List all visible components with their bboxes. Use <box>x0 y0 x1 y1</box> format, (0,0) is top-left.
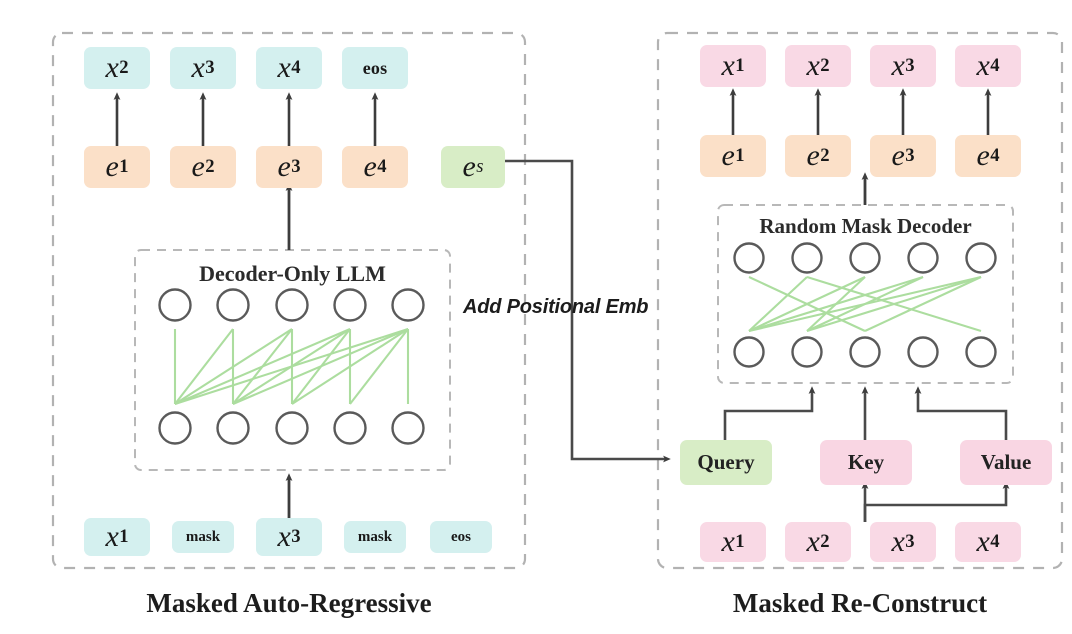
inputs-to-value-connector <box>865 485 1006 522</box>
token-sub: 3 <box>905 147 914 166</box>
left-embedding-to-output-arrows <box>117 96 375 148</box>
decoder-only-llm-title: Decoder-Only LLM <box>135 261 450 287</box>
diagram-canvas: x2 x3 x4 eos e1 e2 e3 e4 es Decoder-Only… <box>0 0 1072 634</box>
token-sub: 4 <box>990 533 999 552</box>
token-base: x <box>891 51 904 81</box>
qkv-label: Query <box>697 450 754 475</box>
token-sub: 1 <box>735 147 744 166</box>
right-embedding-token-2: e3 <box>870 135 936 177</box>
value-box: Value <box>960 440 1052 485</box>
token-sub: 1 <box>735 57 744 76</box>
token-sub: 3 <box>291 158 300 177</box>
token-base: x <box>277 522 290 552</box>
token-base: x <box>277 53 290 83</box>
token-sub: 3 <box>205 59 214 78</box>
token-base: x <box>891 527 904 557</box>
right-input-token-3: x4 <box>955 522 1021 562</box>
token-base: e <box>105 152 118 182</box>
token-base: e <box>277 152 290 182</box>
llm-upper-nodes <box>160 290 424 321</box>
token-sub: 2 <box>205 158 214 177</box>
right-embedding-token-1: e2 <box>785 135 851 177</box>
token-base: x <box>721 51 734 81</box>
right-output-token-2: x3 <box>870 45 936 87</box>
qkv-label: Value <box>981 450 1032 475</box>
left-output-token-0: x2 <box>84 47 150 89</box>
left-panel-caption: Masked Auto-Regressive <box>53 588 525 619</box>
value-to-decoder-connector <box>918 390 1006 440</box>
token-base: e <box>462 152 475 182</box>
left-output-token-3: eos <box>342 47 408 89</box>
left-output-token-2: x4 <box>256 47 322 89</box>
token-base: eos <box>451 530 471 545</box>
token-base: x <box>806 51 819 81</box>
token-sub: 4 <box>990 147 999 166</box>
token-base: mask <box>186 530 220 545</box>
token-sub: 4 <box>377 158 386 177</box>
token-base: eos <box>363 59 388 77</box>
left-panel-border <box>53 33 525 568</box>
token-sub: 2 <box>820 533 829 552</box>
token-sub: 1 <box>735 533 744 552</box>
key-box: Key <box>820 440 912 485</box>
decoder-upper-nodes <box>735 244 996 273</box>
left-input-token-4: eos <box>430 521 492 553</box>
right-input-token-2: x3 <box>870 522 936 562</box>
decoder-lower-nodes <box>735 338 996 367</box>
token-base: e <box>363 152 376 182</box>
right-input-token-1: x2 <box>785 522 851 562</box>
query-to-decoder-connector <box>725 390 812 440</box>
token-base: e <box>891 141 904 171</box>
right-input-token-0: x1 <box>700 522 766 562</box>
token-sub: 2 <box>119 59 128 78</box>
right-embedding-to-output-arrows <box>733 92 988 137</box>
token-base: x <box>191 53 204 83</box>
token-sub: 4 <box>990 57 999 76</box>
token-base: e <box>721 141 734 171</box>
right-embedding-token-3: e4 <box>955 135 1021 177</box>
left-embedding-token-0: e1 <box>84 146 150 188</box>
token-sub: 2 <box>820 57 829 76</box>
token-base: e <box>976 141 989 171</box>
token-sub: 3 <box>291 528 300 547</box>
query-box: Query <box>680 440 772 485</box>
right-output-token-0: x1 <box>700 45 766 87</box>
token-base: x <box>806 527 819 557</box>
right-output-token-1: x2 <box>785 45 851 87</box>
token-sub: 3 <box>905 533 914 552</box>
random-mask-decoder-title: Random Mask Decoder <box>718 214 1013 239</box>
left-input-token-1: mask <box>172 521 234 553</box>
right-panel-caption: Masked Re-Construct <box>658 588 1062 619</box>
left-embedding-token-1: e2 <box>170 146 236 188</box>
token-sub: 1 <box>119 528 128 547</box>
token-base: x <box>976 527 989 557</box>
causal-attention-edges <box>175 329 408 404</box>
token-sub: 3 <box>905 57 914 76</box>
left-input-token-2: x3 <box>256 518 322 556</box>
right-embedding-token-0: e1 <box>700 135 766 177</box>
token-base: x <box>976 51 989 81</box>
add-positional-emb-label: Add Positional Emb <box>463 296 648 319</box>
token-sub: 4 <box>291 59 300 78</box>
token-base: x <box>105 53 118 83</box>
token-base: e <box>191 152 204 182</box>
right-output-token-3: x4 <box>955 45 1021 87</box>
left-special-embedding-token: es <box>441 146 505 188</box>
token-sub: 2 <box>820 147 829 166</box>
left-output-token-1: x3 <box>170 47 236 89</box>
random-mask-attention-edges <box>749 277 981 331</box>
right-panel-border <box>658 33 1062 568</box>
token-base: mask <box>358 530 392 545</box>
llm-lower-nodes <box>160 413 424 444</box>
qkv-label: Key <box>848 450 884 475</box>
left-input-token-0: x1 <box>84 518 150 556</box>
left-embedding-token-3: e4 <box>342 146 408 188</box>
left-embedding-token-2: e3 <box>256 146 322 188</box>
token-sub: s <box>476 158 483 177</box>
left-input-token-3: mask <box>344 521 406 553</box>
token-base: x <box>105 522 118 552</box>
token-base: x <box>721 527 734 557</box>
token-sub: 1 <box>119 158 128 177</box>
token-base: e <box>806 141 819 171</box>
